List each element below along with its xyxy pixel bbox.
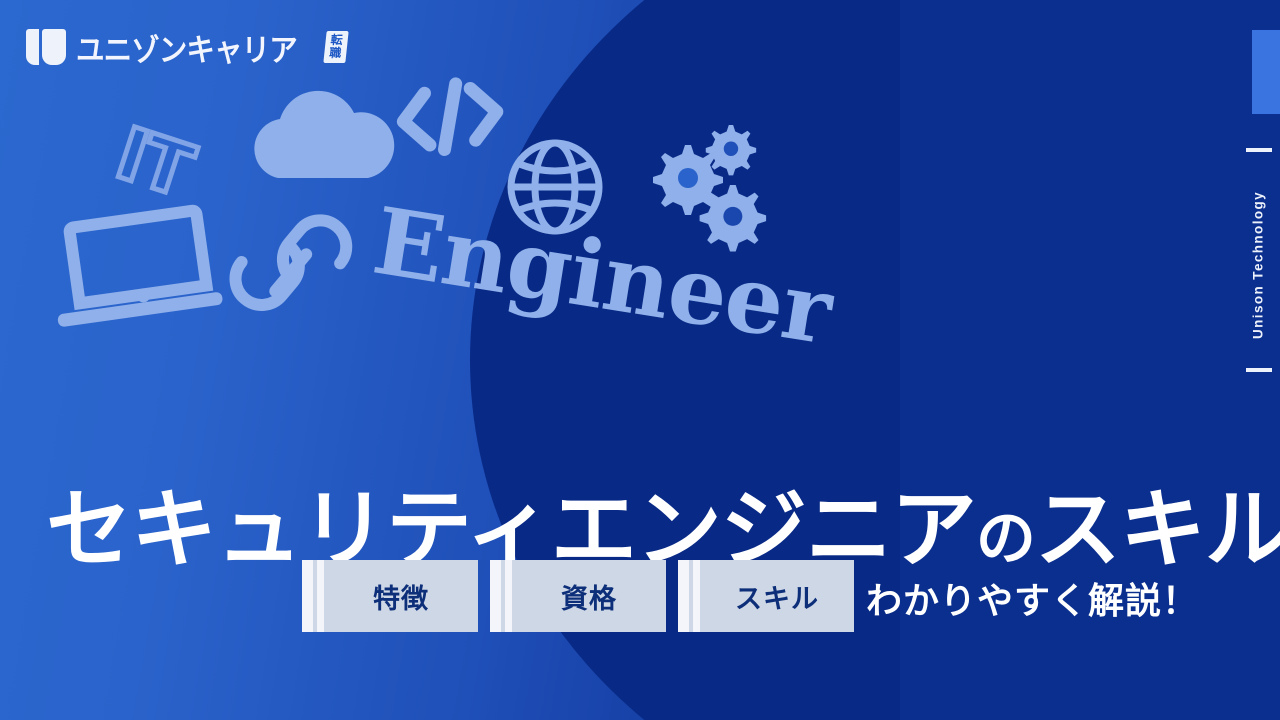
laptop-icon — [45, 202, 224, 327]
headline-particle: の — [976, 504, 1035, 574]
tag-stripe-outer — [678, 560, 689, 632]
logo-badge: 転職 — [323, 31, 348, 63]
link-chain-icon — [231, 218, 351, 307]
headline-part-2: スキル — [1035, 480, 1280, 580]
tag-stripe-outer — [302, 560, 313, 632]
tag-chip-1: 特徴 — [302, 560, 478, 632]
subtitle-tagline: わかりやすく解説！ — [866, 572, 1199, 624]
tag-chip-2: 資格 — [490, 560, 666, 632]
rail-accent-block — [1252, 30, 1280, 114]
code-brackets-icon — [400, 80, 500, 153]
tag-stripe-outer — [490, 560, 501, 632]
hero-banner: IT Engineer ユニゾンキャリア 転職 Unison Technolog… — [0, 0, 1280, 720]
rail-divider-bottom — [1246, 368, 1272, 372]
site-logo[interactable]: ユニゾンキャリア 転職 — [26, 25, 347, 69]
tag-body: 特徴 — [324, 560, 478, 632]
unison-square-mark-icon — [26, 29, 66, 65]
tag-row: 特徴 資格 スキル — [302, 560, 866, 632]
tag-stripe-inner — [505, 560, 512, 632]
tag-label: 資格 — [561, 577, 617, 616]
tag-label: スキル — [735, 577, 819, 616]
rail-vertical-text: Unison Technology — [1247, 168, 1269, 362]
tag-body: スキル — [700, 560, 854, 632]
tag-stripe-inner — [317, 560, 324, 632]
cloud-icon — [254, 91, 394, 178]
tag-stripe-inner — [693, 560, 700, 632]
tag-label: 特徴 — [373, 577, 429, 616]
logo-wordmark: ユニゾンキャリア — [76, 25, 297, 70]
tag-body: 資格 — [512, 560, 666, 632]
tag-chip-3: スキル — [678, 560, 854, 632]
rail-divider-top — [1246, 148, 1272, 152]
